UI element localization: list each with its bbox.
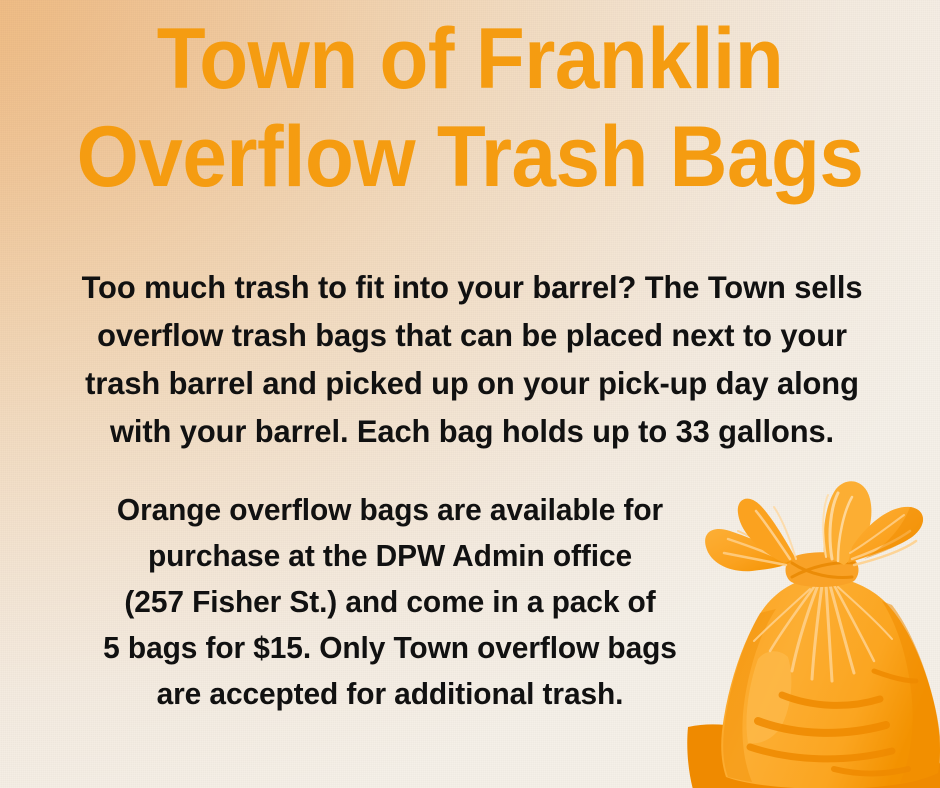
intro-line-1: Too much trash to fit into your barrel? … [53,263,892,311]
title-line-1: Town of Franklin [33,10,907,108]
intro-line-4: with your barrel. Each bag holds up to 3… [53,407,892,455]
poster-canvas: Town of Franklin Overflow Trash Bags Too… [0,0,940,788]
purchase-line-1: Orange overflow bags are available for [67,487,714,533]
poster-content: Town of Franklin Overflow Trash Bags Too… [0,0,940,788]
title-line-2: Overflow Trash Bags [33,108,907,206]
intro-paragraph: Too much trash to fit into your barrel? … [53,263,892,455]
purchase-line-4: 5 bags for $15. Only Town overflow bags [67,625,714,671]
trash-bag-icon [686,481,940,788]
purchase-paragraph: Orange overflow bags are available for p… [67,487,714,717]
page-title: Town of Franklin Overflow Trash Bags [0,10,940,206]
purchase-line-3: (257 Fisher St.) and come in a pack of [67,579,714,625]
intro-line-2: overflow trash bags that can be placed n… [53,311,892,359]
intro-line-3: trash barrel and picked up on your pick-… [53,359,892,407]
purchase-line-5: are accepted for additional trash. [67,671,714,717]
purchase-line-2: purchase at the DPW Admin office [67,533,714,579]
